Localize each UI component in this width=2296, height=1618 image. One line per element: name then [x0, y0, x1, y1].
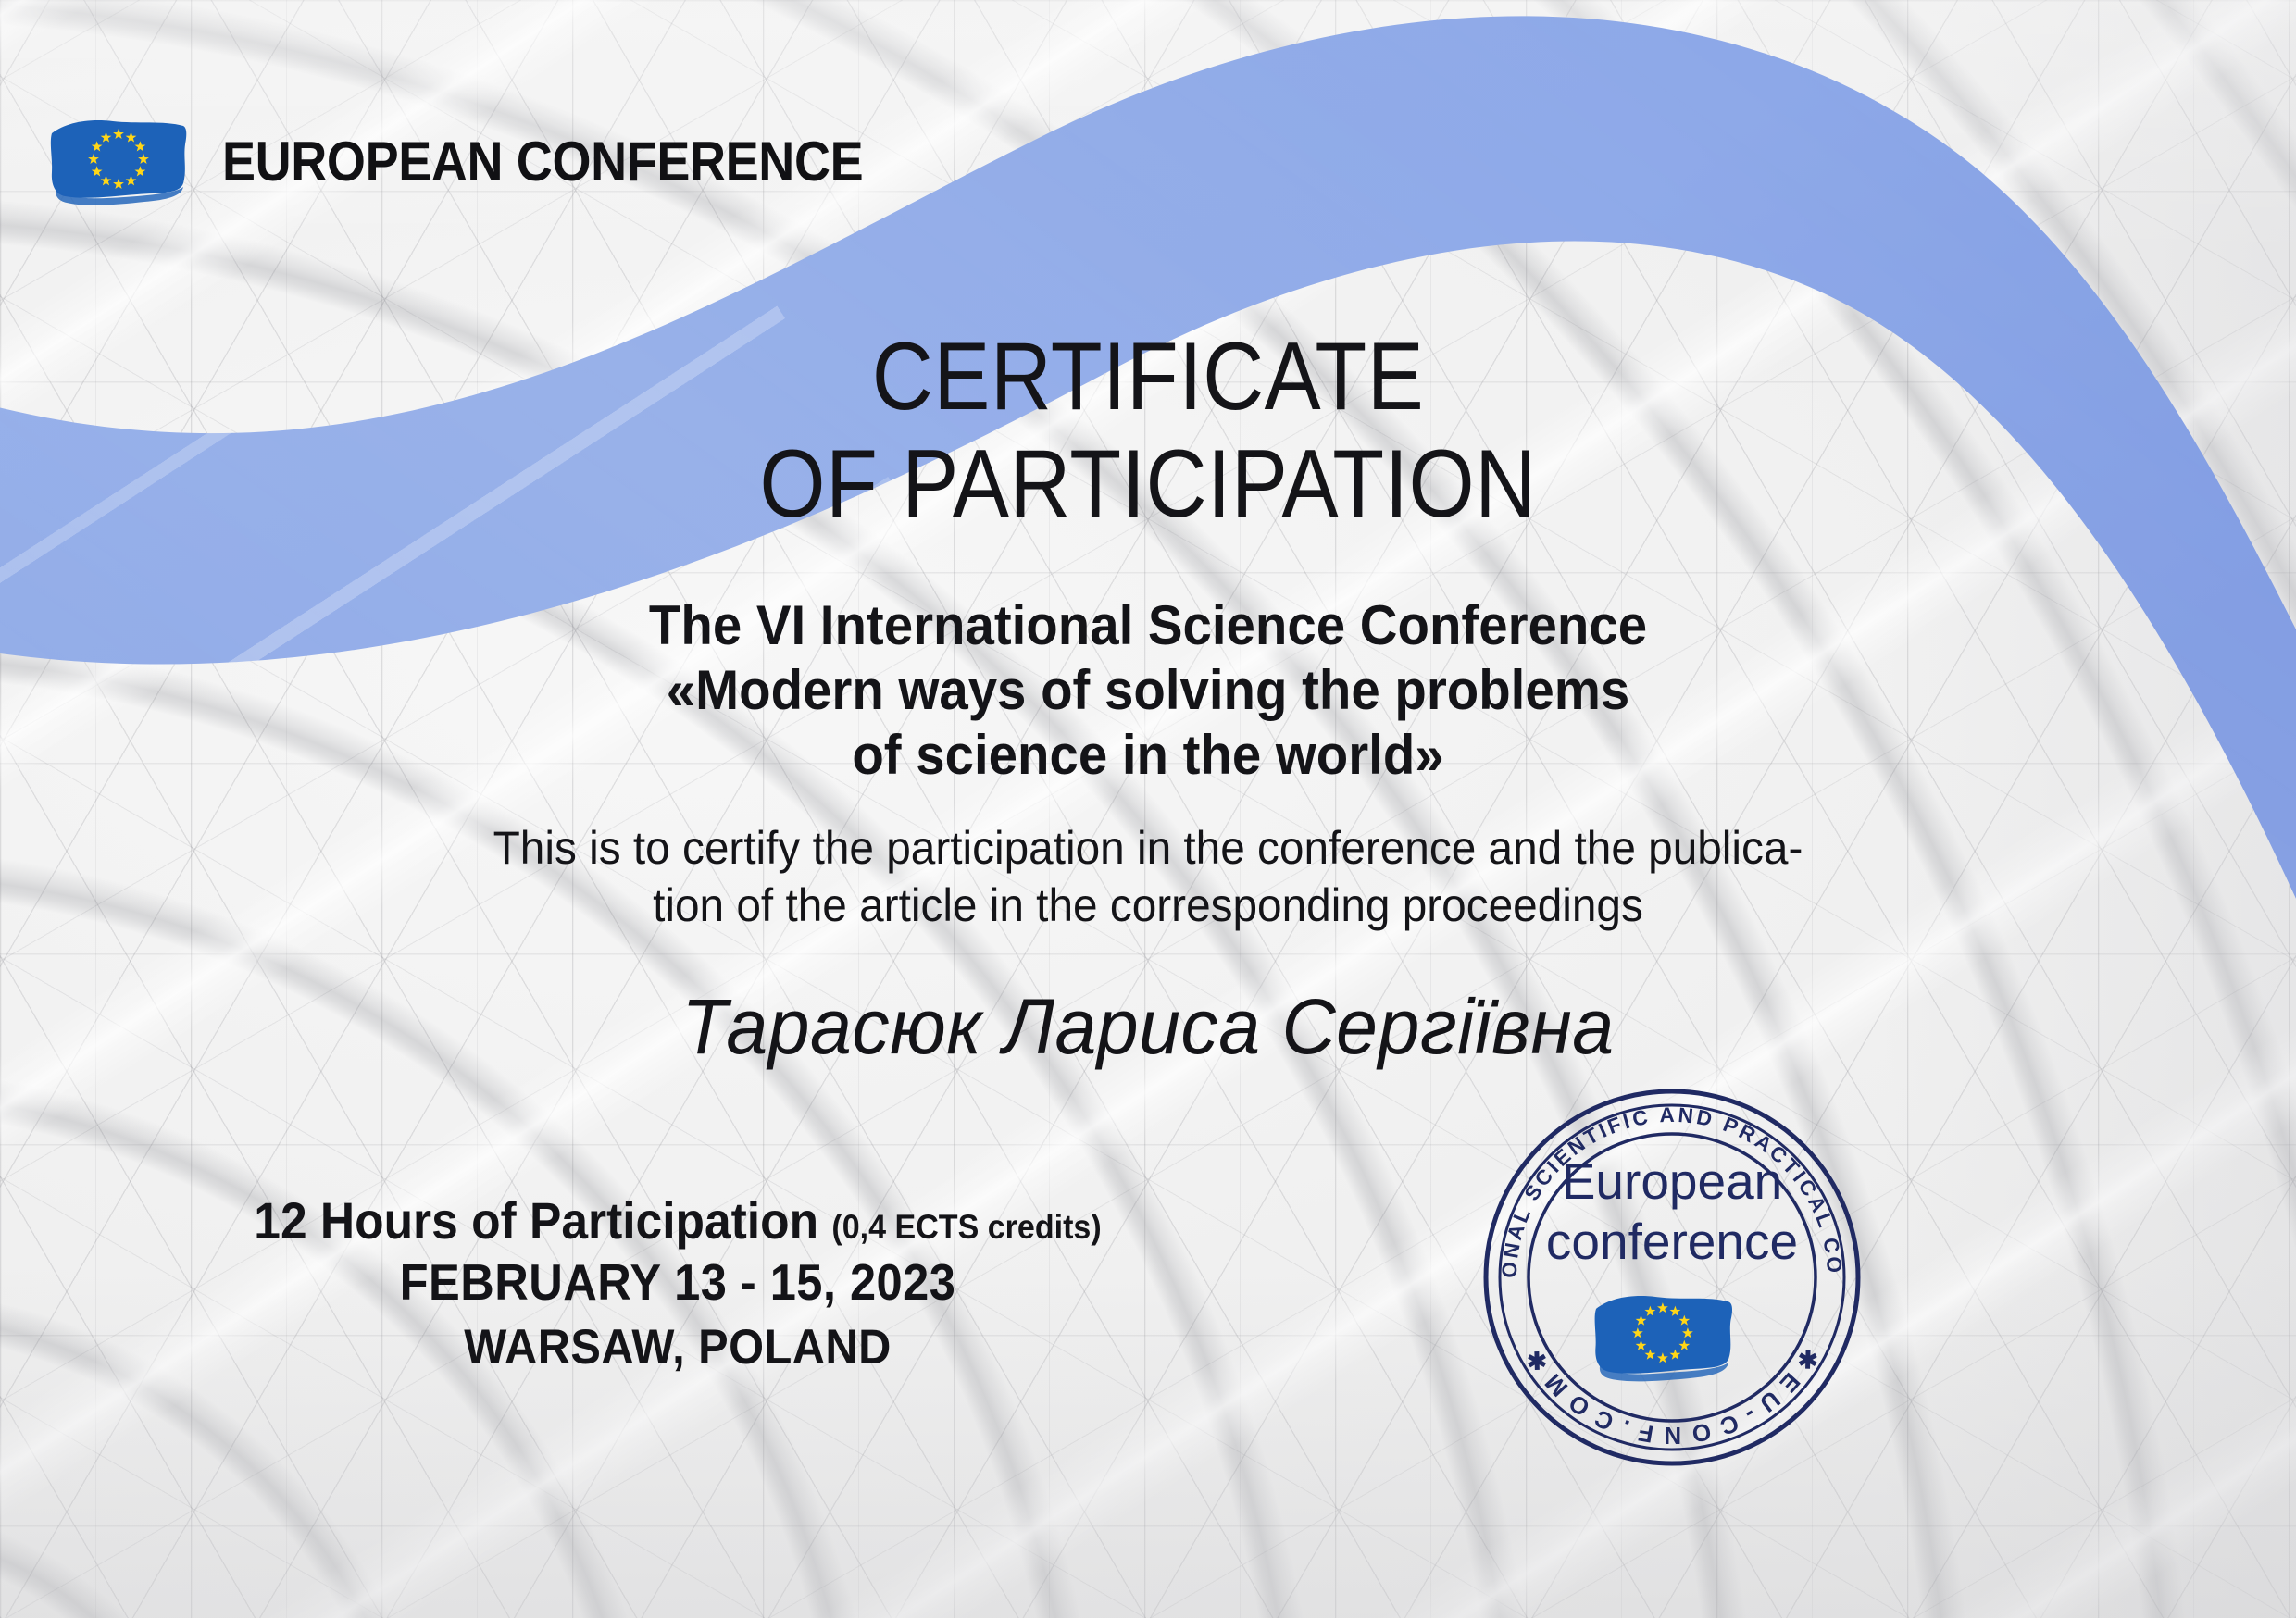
certify-statement: This is to certify the participation in …: [423, 819, 1873, 934]
hours-row: 12 Hours of Participation (0,4 ECTS cred…: [252, 1194, 1104, 1249]
conference-seal: INTERNATIONAL SCIENTIFIC AND PRACTICAL C…: [1478, 1083, 1866, 1472]
participation-details: 12 Hours of Participation (0,4 ECTS cred…: [252, 1194, 1104, 1380]
certificate-page: EUROPEAN CONFERENCE CERTIFICATE OF PARTI…: [0, 0, 2296, 1618]
brand-title: EUROPEAN CONFERENCE: [222, 130, 863, 193]
conference-name: The VI International Science Conference …: [434, 593, 1862, 789]
hours-label: 12 Hours of Participation: [254, 1191, 818, 1250]
seal-center-line-1: European: [1562, 1152, 1783, 1210]
certificate-title-line-1: CERTIFICATE: [480, 324, 1816, 429]
conference-name-line: «Modern ways of solving the problems: [434, 658, 1862, 723]
certify-statement-line: tion of the article in the corresponding…: [423, 877, 1873, 934]
certificate-body: CERTIFICATE OF PARTICIPATION The VI Inte…: [389, 324, 1907, 1072]
conference-date: FEBRUARY 13 - 15, 2023: [252, 1249, 1104, 1317]
eu-flag-brush-icon: [48, 113, 189, 209]
eu-flag-brush-icon: [1595, 1296, 1732, 1381]
seal-center-line-2: conference: [1546, 1213, 1798, 1270]
certificate-title-line-2: OF PARTICIPATION: [480, 431, 1816, 537]
seal-graphic: INTERNATIONAL SCIENTIFIC AND PRACTICAL C…: [1478, 1083, 1866, 1472]
conference-name-line: The VI International Science Conference: [434, 593, 1862, 658]
brand-header: EUROPEAN CONFERENCE: [48, 113, 934, 209]
conference-location: WARSAW, POLAND: [252, 1316, 1104, 1380]
recipient-name: Тарасюк Лариса Сергіївна: [419, 982, 1877, 1072]
conference-name-line: of science in the world»: [434, 723, 1862, 788]
ects-credits-label: (0,4 ECTS credits): [831, 1208, 1101, 1246]
certify-statement-line: This is to certify the participation in …: [423, 819, 1873, 877]
